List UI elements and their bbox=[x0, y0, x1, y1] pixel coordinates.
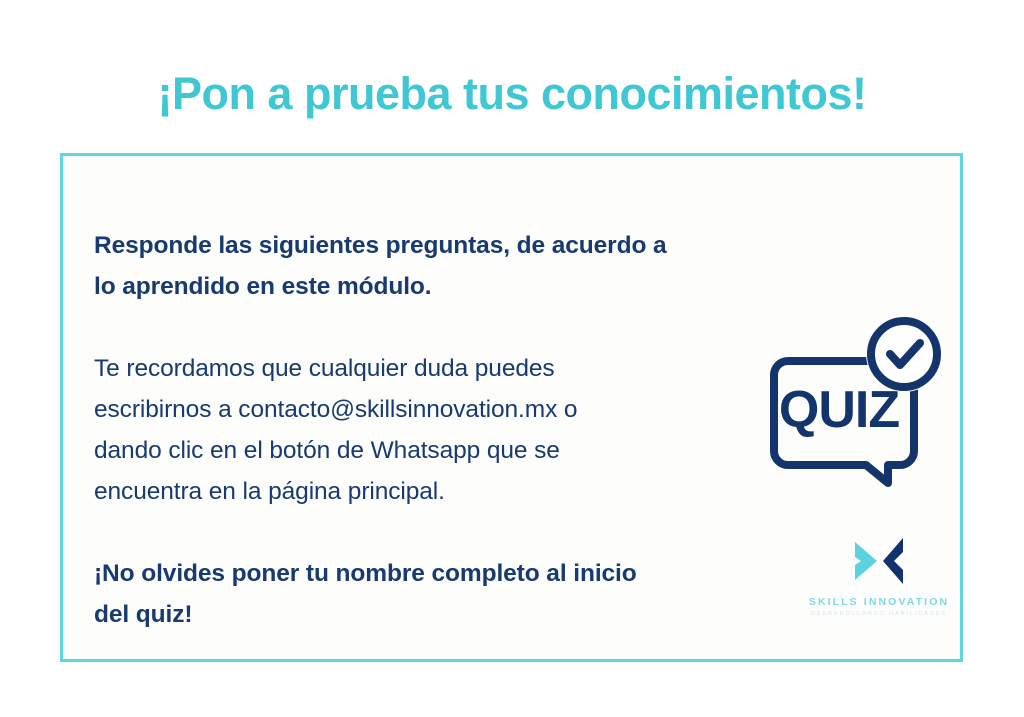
paragraph-spacer-2 bbox=[94, 512, 774, 553]
check-circle-icon bbox=[866, 316, 942, 392]
chevron-pair-mark bbox=[847, 534, 911, 589]
logo-tagline: DESARROLLANDO HABILIDADES bbox=[806, 611, 952, 617]
paragraph-intro-line-1: Responde las siguientes preguntas, de ac… bbox=[94, 225, 774, 266]
brand-logo: SKILLS INNOVATION DESARROLLANDO HABILIDA… bbox=[806, 534, 952, 634]
paragraph-contact-line-1: Te recordamos que cualquier duda puedes bbox=[94, 348, 774, 389]
paragraph-contact-line-3: dando clic en el botón de Whatsapp que s… bbox=[94, 430, 774, 471]
paragraph-intro-line-2: lo aprendido en este módulo. bbox=[94, 266, 774, 307]
page-title: ¡Pon a prueba tus conocimientos! bbox=[0, 66, 1024, 122]
logo-wordmark: SKILLS INNOVATION bbox=[806, 596, 952, 608]
card-body-text: Responde las siguientes preguntas, de ac… bbox=[94, 225, 774, 635]
paragraph-reminder-line-2: del quiz! bbox=[94, 594, 774, 635]
paragraph-spacer-1 bbox=[94, 307, 774, 348]
paragraph-contact-line-4: encuentra en la página principal. bbox=[94, 471, 774, 512]
paragraph-contact-line-2: escribirnos a contacto@skillsinnovation.… bbox=[94, 389, 774, 430]
quiz-bubble-label: QUIZ bbox=[779, 381, 899, 439]
quiz-illustration: QUIZ bbox=[756, 312, 956, 487]
paragraph-reminder-line-1: ¡No olvides poner tu nombre completo al … bbox=[94, 553, 774, 594]
